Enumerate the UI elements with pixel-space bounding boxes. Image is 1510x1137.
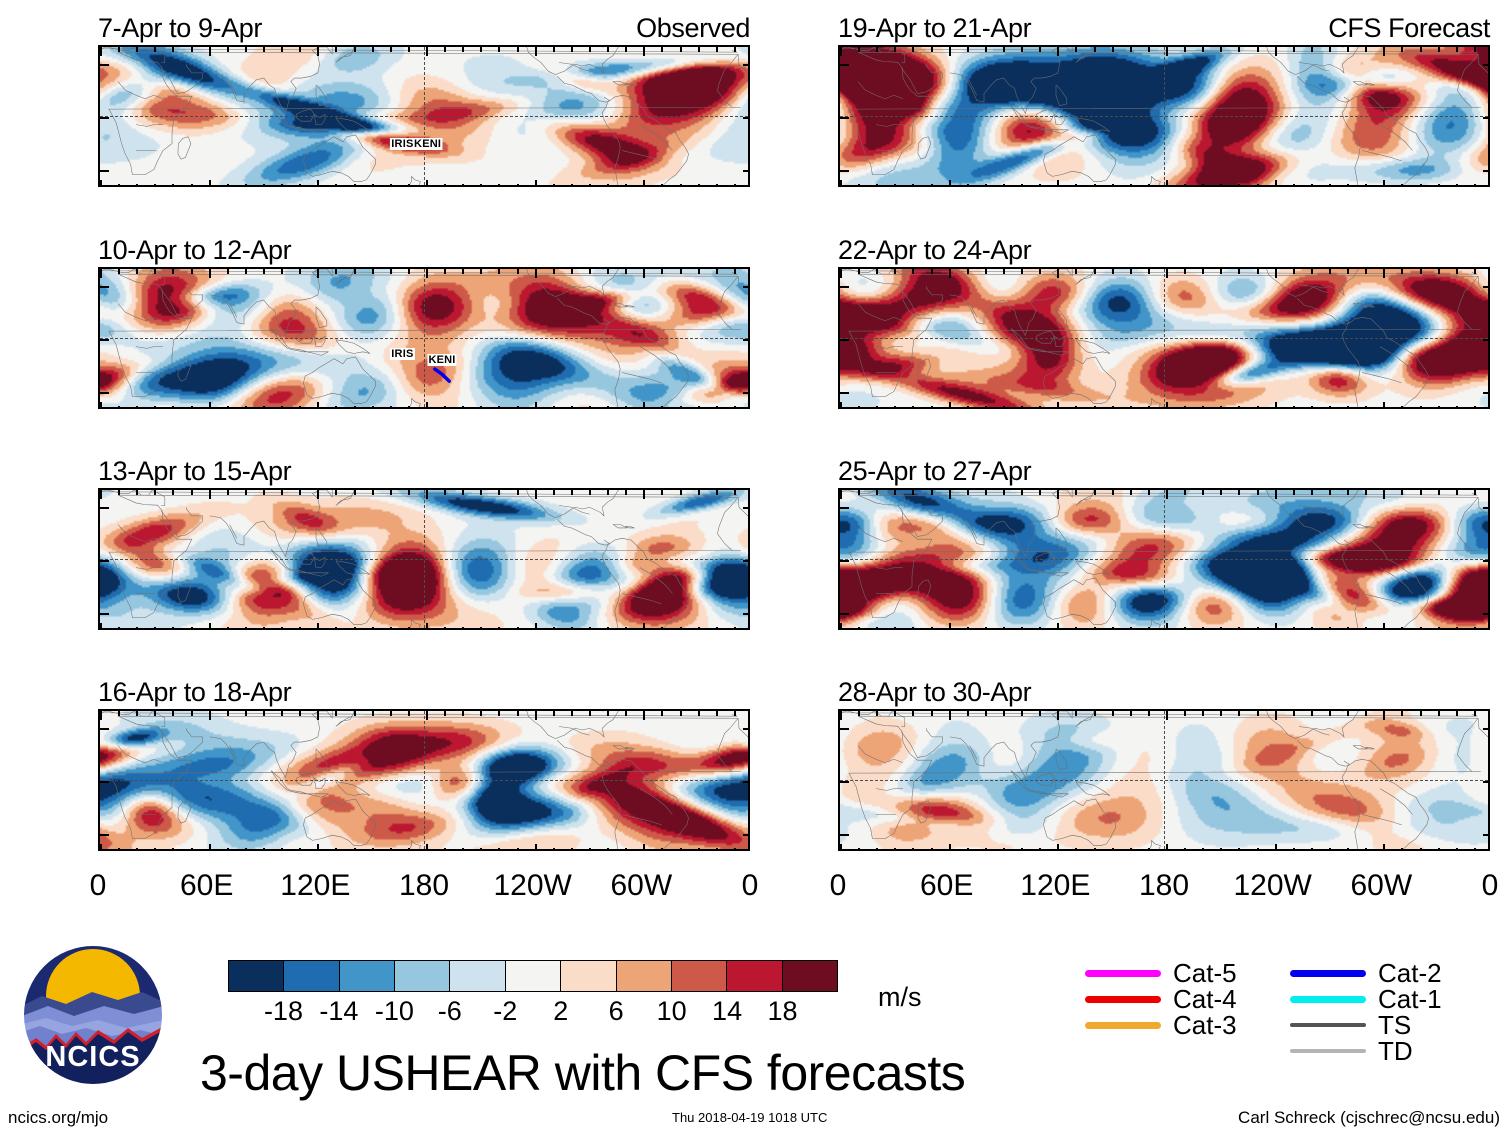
dateline: [424, 269, 425, 407]
x-tick-mark: [894, 184, 896, 187]
x-tick-mark: [209, 180, 211, 187]
x-tick-mark: [372, 711, 374, 716]
x-tick-mark: [1094, 406, 1096, 409]
x-tick-mark: [1003, 47, 1005, 52]
x-tick-mark: [716, 269, 718, 274]
x-tick-mark: [607, 848, 609, 851]
x-tick-mark: [408, 406, 410, 409]
legend-swatch-cat-2: [1290, 970, 1366, 977]
x-tick-mark: [390, 627, 392, 630]
y-tick-mark: [840, 392, 849, 394]
x-tick-mark: [1257, 184, 1259, 187]
x-tick-mark: [498, 848, 500, 851]
x-tick-mark: [354, 490, 356, 495]
x-tick-mark: [372, 490, 374, 495]
x-tick-mark: [408, 47, 410, 52]
x-tick-mark: [299, 269, 301, 274]
x-tick-mark: [553, 269, 555, 274]
x-tick-mark: [1202, 184, 1204, 187]
x-tick-mark: [444, 490, 446, 495]
x-tick-mark: [1347, 490, 1349, 495]
panel-title-p4: 16-Apr to 18-Apr: [98, 677, 291, 708]
x-tick-mark: [1456, 627, 1458, 630]
x-tick-mark: [1094, 490, 1096, 495]
x-tick-mark: [625, 406, 627, 409]
x-tick-mark: [1456, 406, 1458, 409]
x-tick-mark: [625, 47, 627, 52]
y-tick-mark: [100, 781, 109, 783]
x-tick-mark: [894, 269, 896, 274]
x-tick-mark: [912, 490, 914, 495]
x-tick-mark: [1057, 269, 1059, 278]
x-tick-mark: [517, 848, 519, 851]
x-tick-mark: [191, 627, 193, 630]
x-tick-mark: [1238, 848, 1240, 851]
colorbar-cell-2: [340, 961, 395, 991]
x-tick-mark: [136, 269, 138, 274]
x-tick-mark: [1420, 848, 1422, 851]
x-tick-label: 120W: [1233, 869, 1311, 903]
y-tick-mark: [100, 392, 109, 394]
x-tick-mark: [1456, 47, 1458, 52]
x-tick-mark: [1456, 711, 1458, 716]
x-tick-mark: [480, 711, 482, 716]
x-tick-mark: [154, 47, 156, 52]
colorbar-cell-10: [783, 961, 837, 991]
x-tick-mark: [625, 627, 627, 630]
x-tick-mark: [625, 490, 627, 495]
x-tick-mark: [444, 47, 446, 52]
x-tick-mark: [390, 711, 392, 716]
x-tick-mark: [643, 844, 645, 851]
x-tick-mark: [607, 490, 609, 495]
dateline: [1164, 269, 1165, 407]
x-tick-mark: [1003, 848, 1005, 851]
x-tick-mark: [1166, 844, 1168, 851]
x-tick-mark: [444, 184, 446, 187]
x-tick-mark: [643, 711, 645, 720]
colorbar-cell-8: [672, 961, 727, 991]
x-tick-mark: [1401, 406, 1403, 409]
x-tick-mark: [172, 269, 174, 274]
x-tick-mark: [1184, 406, 1186, 409]
x-tick-mark: [154, 848, 156, 851]
x-tick-mark: [335, 269, 337, 274]
x-tick-mark: [335, 848, 337, 851]
x-tick-mark: [571, 711, 573, 716]
x-tick-mark: [498, 490, 500, 495]
x-tick-label: 60W: [1350, 869, 1412, 903]
x-tick-mark: [154, 490, 156, 495]
x-tick-mark: [1039, 490, 1041, 495]
x-tick-mark: [1383, 844, 1385, 851]
x-tick-mark: [876, 184, 878, 187]
legend-label: TD: [1378, 1038, 1413, 1064]
map-p4: 30N030S: [98, 709, 750, 851]
x-tick-mark: [462, 269, 464, 274]
x-tick-mark: [1383, 490, 1385, 499]
x-tick-mark: [517, 47, 519, 52]
y-tick-mark: [840, 339, 849, 341]
x-tick-mark: [1438, 490, 1440, 495]
panel-title-p1: 7-Apr to 9-Apr: [98, 13, 262, 44]
x-tick-mark: [227, 47, 229, 52]
x-tick-mark: [1238, 490, 1240, 495]
x-tick-mark: [1347, 184, 1349, 187]
x-tick-mark: [335, 490, 337, 495]
x-tick-mark: [1311, 47, 1313, 52]
x-tick-mark: [317, 269, 319, 278]
x-tick-mark: [1075, 406, 1077, 409]
x-tick-mark: [840, 844, 842, 851]
footer-site[interactable]: ncics.org/mjo: [8, 1108, 108, 1128]
x-tick-mark: [1311, 269, 1313, 274]
x-tick-mark: [209, 844, 211, 851]
x-tick-mark: [480, 269, 482, 274]
x-tick-mark: [281, 627, 283, 630]
x-tick-mark: [661, 184, 663, 187]
x-tick-mark: [136, 406, 138, 409]
x-tick-mark: [894, 627, 896, 630]
footer-author: Carl Schreck (cjschrec@ncsu.edu): [1238, 1108, 1500, 1128]
x-tick-mark: [1148, 627, 1150, 630]
x-tick-label: 0: [90, 869, 107, 903]
x-tick-mark: [444, 406, 446, 409]
x-tick-mark: [1184, 848, 1186, 851]
x-tick-mark: [1383, 402, 1385, 409]
y-tick-mark: [100, 560, 109, 562]
x-tick-mark: [643, 269, 645, 278]
x-tick-mark: [498, 711, 500, 716]
x-tick-mark: [136, 848, 138, 851]
x-tick-mark: [245, 490, 247, 495]
y-tick-mark: [743, 781, 750, 783]
x-tick-mark: [589, 490, 591, 495]
x-tick-mark: [1130, 848, 1132, 851]
x-tick-label: 0: [830, 869, 847, 903]
x-tick-mark: [462, 406, 464, 409]
x-tick-mark: [154, 627, 156, 630]
legend-item-cat-4: Cat-4: [1085, 986, 1237, 1012]
x-tick-mark: [985, 490, 987, 495]
x-tick-mark: [426, 490, 428, 499]
x-tick-mark: [1148, 490, 1150, 495]
x-tick-mark: [191, 490, 193, 495]
x-tick-mark: [1293, 627, 1295, 630]
colorbar-tick-label: -18: [264, 996, 303, 1027]
legend-item-ts: TS: [1290, 1012, 1442, 1038]
x-tick-mark: [100, 269, 102, 278]
x-tick-mark: [390, 406, 392, 409]
x-tick-mark: [100, 490, 102, 499]
x-tick-mark: [299, 848, 301, 851]
x-tick-mark: [462, 47, 464, 52]
x-tick-label: 60E: [180, 869, 233, 903]
y-tick-mark: [1483, 64, 1490, 66]
x-tick-mark: [1420, 269, 1422, 274]
footer-timestamp: Thu 2018-04-19 1018 UTC: [672, 1110, 827, 1125]
x-tick-mark: [1021, 269, 1023, 274]
x-tick-mark: [1184, 711, 1186, 716]
x-tick-mark: [172, 711, 174, 716]
x-tick-mark: [1293, 406, 1295, 409]
x-tick-mark: [227, 848, 229, 851]
y-tick-mark: [100, 613, 109, 615]
x-tick-mark: [931, 490, 933, 495]
x-tick-mark: [444, 269, 446, 274]
x-tick-mark: [1293, 490, 1295, 495]
x-tick-mark: [172, 848, 174, 851]
x-tick-mark: [734, 269, 736, 274]
x-tick-mark: [390, 47, 392, 52]
x-tick-mark: [876, 490, 878, 495]
x-tick-mark: [858, 848, 860, 851]
y-tick-mark: [743, 339, 750, 341]
y-tick-mark: [743, 170, 750, 172]
y-tick-mark: [840, 286, 849, 288]
x-tick-mark: [209, 269, 211, 278]
x-tick-mark: [281, 490, 283, 495]
x-tick-mark: [1075, 269, 1077, 274]
x-tick-mark: [985, 711, 987, 716]
x-tick-mark: [1293, 848, 1295, 851]
legend-column-left: Cat-5Cat-4Cat-3: [1085, 960, 1237, 1038]
x-tick-mark: [263, 47, 265, 52]
x-tick-mark: [1094, 184, 1096, 187]
x-tick-mark: [1383, 623, 1385, 630]
x-tick-mark: [1456, 490, 1458, 495]
x-tick-mark: [643, 402, 645, 409]
x-tick-mark: [698, 490, 700, 495]
x-tick-mark: [172, 490, 174, 495]
x-tick-mark: [1311, 711, 1313, 716]
x-tick-mark: [840, 623, 842, 630]
x-tick-mark: [263, 184, 265, 187]
y-tick-mark: [100, 834, 109, 836]
x-tick-mark: [1148, 184, 1150, 187]
x-tick-mark: [985, 47, 987, 52]
colorbar-cell-5: [506, 961, 561, 991]
x-tick-mark: [876, 47, 878, 52]
x-tick-mark: [245, 47, 247, 52]
x-tick-mark: [1438, 711, 1440, 716]
x-tick-mark: [480, 848, 482, 851]
x-tick-mark: [281, 848, 283, 851]
y-tick-mark: [1483, 781, 1490, 783]
x-tick-mark: [949, 623, 951, 630]
x-tick-mark: [912, 711, 914, 716]
x-tick-mark: [716, 184, 718, 187]
x-tick-mark: [1474, 627, 1476, 630]
x-tick-mark: [716, 848, 718, 851]
x-tick-mark: [607, 47, 609, 52]
x-tick-mark: [517, 490, 519, 495]
x-tick-mark: [354, 269, 356, 274]
x-tick-mark: [967, 490, 969, 495]
x-tick-mark: [1075, 848, 1077, 851]
x-tick-mark: [1202, 406, 1204, 409]
x-tick-mark: [1365, 406, 1367, 409]
x-tick-mark: [661, 627, 663, 630]
x-tick-mark: [643, 47, 645, 56]
x-tick-mark: [1220, 711, 1222, 716]
x-tick-mark: [912, 627, 914, 630]
x-tick-mark: [1039, 184, 1041, 187]
x-tick-mark: [661, 47, 663, 52]
x-tick-mark: [118, 269, 120, 274]
x-tick-mark: [1021, 627, 1023, 630]
x-tick-mark: [1474, 490, 1476, 495]
x-tick-mark: [1238, 406, 1240, 409]
x-tick-mark: [553, 848, 555, 851]
x-tick-mark: [1275, 711, 1277, 720]
x-tick-mark: [858, 47, 860, 52]
x-tick-mark: [716, 711, 718, 716]
x-tick-mark: [1021, 490, 1023, 495]
x-tick-mark: [858, 184, 860, 187]
x-tick-mark: [1148, 269, 1150, 274]
x-tick-mark: [1202, 627, 1204, 630]
x-tick-mark: [354, 406, 356, 409]
column-header-observed: Observed: [636, 13, 750, 44]
x-tick-label: 0: [1482, 869, 1499, 903]
x-tick-mark: [680, 269, 682, 274]
x-tick-mark: [408, 490, 410, 495]
x-tick-mark: [985, 848, 987, 851]
x-tick-label: 60E: [920, 869, 973, 903]
x-tick-mark: [985, 269, 987, 274]
x-tick-mark: [553, 627, 555, 630]
x-tick-mark: [1039, 47, 1041, 52]
x-tick-mark: [263, 711, 265, 716]
x-tick-mark: [444, 711, 446, 716]
x-tick-mark: [245, 269, 247, 274]
x-tick-mark: [1166, 623, 1168, 630]
dateline: [1164, 711, 1165, 849]
legend-item-td: TD: [1290, 1038, 1442, 1064]
x-tick-mark: [263, 269, 265, 274]
y-tick-mark: [743, 286, 750, 288]
x-tick-mark: [607, 269, 609, 274]
legend-column-right: Cat-2Cat-1TSTD: [1290, 960, 1442, 1064]
x-tick-mark: [1438, 269, 1440, 274]
x-axis-right: 060E120E180120W60W0: [838, 869, 1490, 909]
x-tick-mark: [1329, 490, 1331, 495]
y-tick-mark: [743, 117, 750, 119]
x-tick-mark: [281, 711, 283, 716]
x-tick-mark: [1347, 406, 1349, 409]
x-tick-mark: [209, 47, 211, 56]
colorbar-tick-label: 2: [553, 996, 568, 1027]
x-tick-mark: [1238, 627, 1240, 630]
x-tick-mark: [1275, 47, 1277, 56]
x-tick-mark: [1220, 406, 1222, 409]
x-tick-mark: [1311, 184, 1313, 187]
x-tick-mark: [840, 711, 842, 720]
x-tick-mark: [245, 406, 247, 409]
panel-title-p6: 22-Apr to 24-Apr: [838, 235, 1031, 266]
x-tick-mark: [607, 627, 609, 630]
x-tick-mark: [154, 184, 156, 187]
x-tick-mark: [1329, 848, 1331, 851]
x-tick-mark: [209, 490, 211, 499]
x-tick-mark: [191, 848, 193, 851]
x-tick-mark: [191, 47, 193, 52]
x-tick-mark: [480, 490, 482, 495]
x-tick-mark: [1257, 848, 1259, 851]
x-tick-mark: [589, 406, 591, 409]
x-tick-mark: [858, 627, 860, 630]
x-tick-mark: [1401, 47, 1403, 52]
x-tick-mark: [172, 184, 174, 187]
colorbar-tick-label: -2: [493, 996, 517, 1027]
colorbar-tick-label: 14: [712, 996, 742, 1027]
x-tick-mark: [643, 490, 645, 499]
x-tick-mark: [949, 47, 951, 56]
y-tick-mark: [100, 339, 109, 341]
x-tick-mark: [949, 180, 951, 187]
x-tick-mark: [136, 711, 138, 716]
x-tick-mark: [498, 184, 500, 187]
x-tick-mark: [354, 184, 356, 187]
x-tick-mark: [426, 844, 428, 851]
x-tick-mark: [661, 269, 663, 274]
y-tick-mark: [743, 560, 750, 562]
x-tick-mark: [498, 47, 500, 52]
x-tick-mark: [517, 627, 519, 630]
x-tick-mark: [1021, 711, 1023, 716]
x-tick-mark: [698, 627, 700, 630]
x-tick-mark: [299, 627, 301, 630]
y-tick-mark: [1483, 170, 1490, 172]
x-tick-mark: [408, 711, 410, 716]
x-tick-mark: [245, 711, 247, 716]
y-tick-mark: [743, 507, 750, 509]
x-tick-mark: [426, 711, 428, 720]
storm-label-keni: KENI: [413, 138, 442, 150]
panel-title-p2: 10-Apr to 12-Apr: [98, 235, 291, 266]
x-tick-mark: [876, 711, 878, 716]
x-tick-mark: [1420, 627, 1422, 630]
x-tick-mark: [1130, 406, 1132, 409]
x-tick-mark: [912, 184, 914, 187]
x-tick-mark: [1057, 180, 1059, 187]
y-tick-mark: [100, 64, 109, 66]
colorbar-tick-label: 10: [657, 996, 687, 1027]
y-tick-mark: [840, 117, 849, 119]
legend-swatch-cat-3: [1085, 1022, 1161, 1029]
x-tick-mark: [1021, 184, 1023, 187]
x-tick-mark: [317, 402, 319, 409]
x-tick-mark: [354, 848, 356, 851]
x-tick-mark: [625, 184, 627, 187]
x-tick-mark: [1329, 406, 1331, 409]
x-tick-mark: [931, 711, 933, 716]
colorbar-tick-label: -10: [375, 996, 414, 1027]
x-tick-mark: [1293, 47, 1295, 52]
x-tick-mark: [1238, 711, 1240, 716]
x-tick-mark: [535, 623, 537, 630]
x-tick-mark: [858, 490, 860, 495]
map-p8: 30N030S: [838, 709, 1490, 851]
x-tick-mark: [894, 848, 896, 851]
x-tick-mark: [1383, 180, 1385, 187]
x-tick-mark: [245, 184, 247, 187]
x-tick-mark: [1094, 627, 1096, 630]
x-tick-mark: [1438, 184, 1440, 187]
x-tick-mark: [1383, 711, 1385, 720]
x-tick-mark: [1401, 184, 1403, 187]
